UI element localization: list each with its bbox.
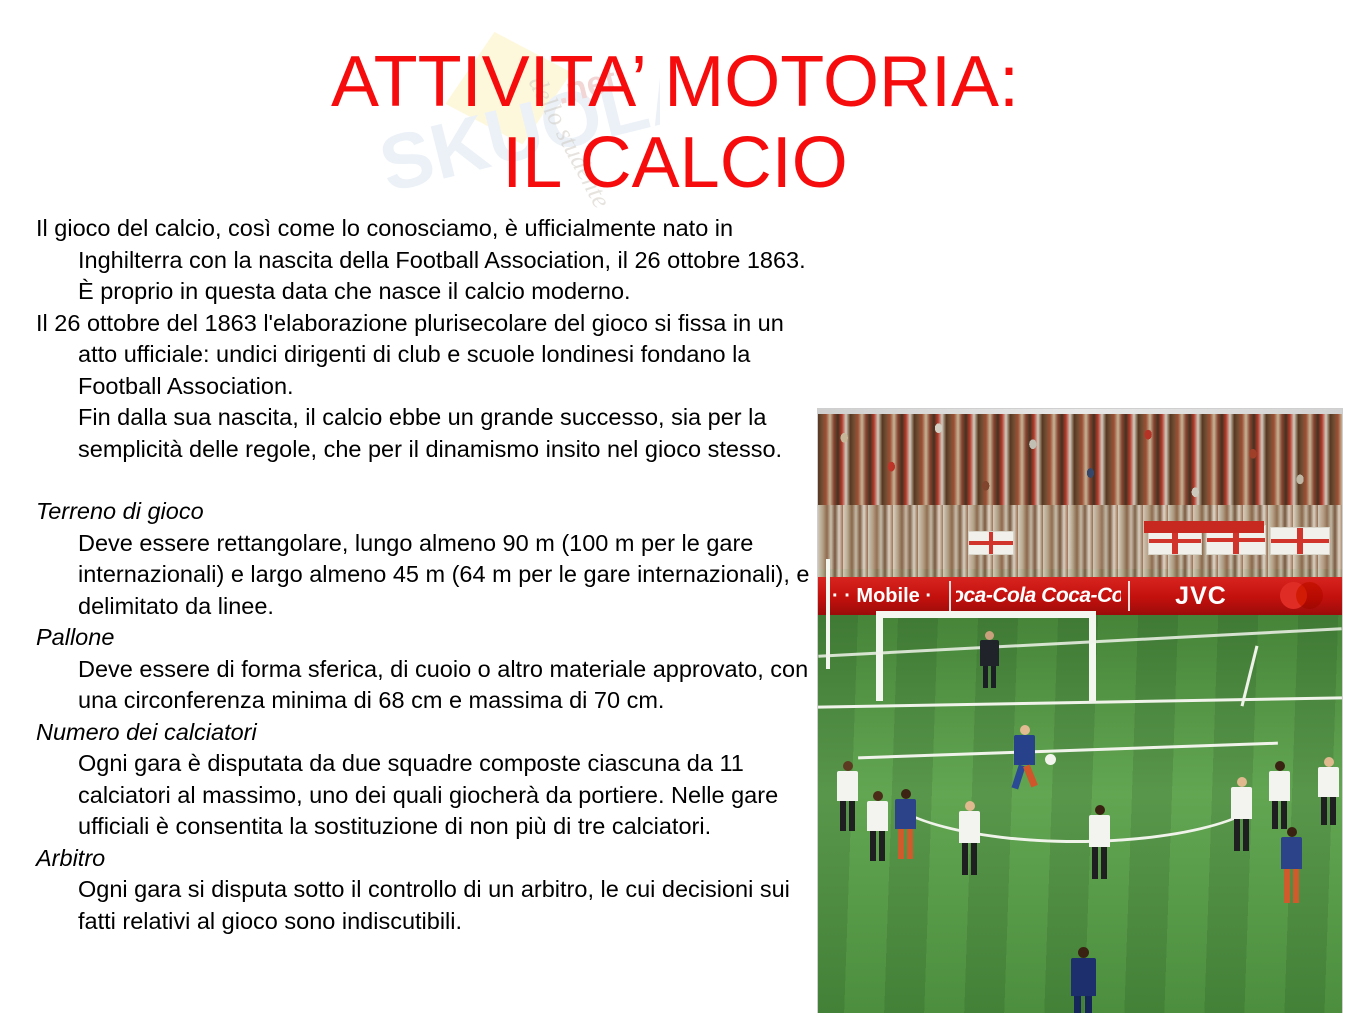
mastercard-logo-icon xyxy=(1280,582,1336,609)
section-spacer xyxy=(36,465,826,496)
photo-upper-tier-rail xyxy=(818,409,1342,414)
ad-divider xyxy=(1128,581,1130,611)
section-calciatori: Numero dei calciatori Ogni gara è disput… xyxy=(36,717,826,843)
photo-football xyxy=(1045,754,1056,765)
section-pallone: Pallone Deve essere di forma sferica, di… xyxy=(36,622,826,717)
photo-flag-banner xyxy=(968,531,1014,555)
section-body-terreno: Deve essere rettangolare, lungo almeno 9… xyxy=(36,528,826,623)
title-line-2: IL CALCIO xyxy=(0,123,1350,204)
section-heading-pallone: Pallone xyxy=(36,622,826,654)
photo-flag-banner xyxy=(1270,527,1330,555)
photo-goal-post-left xyxy=(876,611,883,701)
paragraph-intro-1: Il gioco del calcio, così come lo conosc… xyxy=(36,213,826,308)
section-terreno: Terreno di gioco Deve essere rettangolar… xyxy=(36,496,826,622)
ad-board-cocacola: Coca-Cola Coca-Cola xyxy=(956,577,1121,615)
slide-title: ATTIVITA’ MOTORIA: IL CALCIO xyxy=(0,42,1350,204)
section-heading-arbitro: Arbitro xyxy=(36,843,826,875)
ad-divider xyxy=(949,581,951,611)
photo-advertising-hoarding: · · Mobile · Coca-Cola Coca-Cola JVC xyxy=(818,577,1342,615)
paragraph-intro-3: Fin dalla sua nascita, il calcio ebbe un… xyxy=(36,402,826,465)
section-arbitro: Arbitro Ogni gara si disputa sotto il co… xyxy=(36,843,826,938)
photo-red-banner xyxy=(1144,521,1264,533)
photo-goal-crossbar xyxy=(876,611,1096,618)
section-heading-terreno: Terreno di gioco xyxy=(36,496,826,528)
photo-penalty-arc xyxy=(878,727,1274,843)
stadium-photo: · · Mobile · Coca-Cola Coca-Cola JVC xyxy=(818,409,1342,1013)
paragraph-intro-2: Il 26 ottobre del 1863 l'elaborazione pl… xyxy=(36,308,826,403)
ad-board-jvc: JVC xyxy=(1156,577,1246,615)
photo-corner-flag xyxy=(826,559,830,669)
photo-goal-post-right xyxy=(1089,611,1096,701)
section-body-pallone: Deve essere di forma sferica, di cuoio o… xyxy=(36,654,826,717)
slide-body: Il gioco del calcio, così come lo conosc… xyxy=(36,213,826,937)
section-heading-calciatori: Numero dei calciatori xyxy=(36,717,826,749)
section-body-calciatori: Ogni gara è disputata da due squadre com… xyxy=(36,748,826,843)
ad-board-tmobile: · · Mobile · xyxy=(822,577,942,615)
title-line-1: ATTIVITA’ MOTORIA: xyxy=(0,42,1350,123)
section-body-arbitro: Ogni gara si disputa sotto il controllo … xyxy=(36,874,826,937)
